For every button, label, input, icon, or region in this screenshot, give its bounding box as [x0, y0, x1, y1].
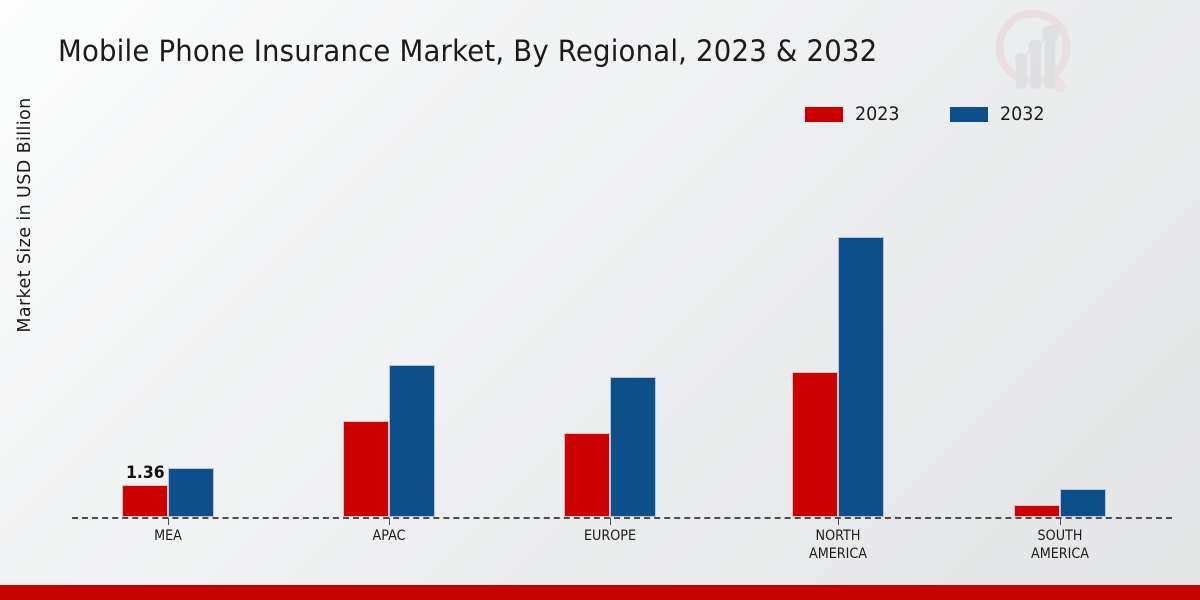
- chart-legend: 2023 2032: [805, 103, 1048, 125]
- x-label-line: NORTH: [763, 527, 913, 545]
- bar-south-america-2032: [1060, 489, 1106, 517]
- bottom-accent-bar: [0, 585, 1200, 600]
- bar-south-america-2023: [1014, 505, 1060, 517]
- legend-swatch-2023: [805, 107, 843, 122]
- legend-label-2032: 2032: [1000, 103, 1044, 125]
- bar-mea-2032: [168, 468, 214, 517]
- legend-label-2023: 2023: [855, 103, 899, 125]
- legend-swatch-2032: [950, 107, 988, 122]
- x-label-line: EUROPE: [535, 527, 685, 545]
- bar-europe-2023: [564, 433, 610, 517]
- legend-item-2032[interactable]: 2032: [950, 103, 1048, 125]
- bar-apac-2032: [389, 365, 435, 517]
- x-tick-mea: [168, 518, 169, 525]
- data-label-mea-2023: 1.36: [126, 463, 165, 483]
- y-axis-title: Market Size in USD Billion: [15, 30, 35, 400]
- bar-north-america-2032: [838, 237, 884, 517]
- x-label-south-america: SOUTHAMERICA: [985, 527, 1135, 563]
- x-tick-europe: [610, 518, 611, 525]
- x-label-line: AMERICA: [763, 545, 913, 563]
- x-label-europe: EUROPE: [535, 527, 685, 545]
- x-label-north-america: NORTHAMERICA: [763, 527, 913, 563]
- x-tick-apac: [389, 518, 390, 525]
- bar-europe-2032: [610, 377, 656, 517]
- bar-apac-2023: [343, 421, 389, 517]
- x-label-line: SOUTH: [985, 527, 1135, 545]
- x-tick-north-america: [838, 518, 839, 525]
- chart-title: Mobile Phone Insurance Market, By Region…: [58, 34, 877, 68]
- bar-north-america-2023: [792, 372, 838, 517]
- x-label-line: APAC: [314, 527, 464, 545]
- x-label-apac: APAC: [314, 527, 464, 545]
- x-label-line: MEA: [93, 527, 243, 545]
- x-label-mea: MEA: [93, 527, 243, 545]
- x-label-line: AMERICA: [985, 545, 1135, 563]
- chart-figure: Mobile Phone Insurance Market, By Region…: [0, 0, 1200, 600]
- bar-mea-2023: [122, 485, 168, 517]
- legend-item-2023[interactable]: 2023: [805, 103, 903, 125]
- plot-area: MEAAPACEUROPENORTHAMERICASOUTHAMERICA 1.…: [0, 0, 1200, 600]
- watermark-logo-icon: [990, 4, 1086, 100]
- x-tick-south-america: [1060, 518, 1061, 525]
- axis-baseline: [72, 517, 1172, 519]
